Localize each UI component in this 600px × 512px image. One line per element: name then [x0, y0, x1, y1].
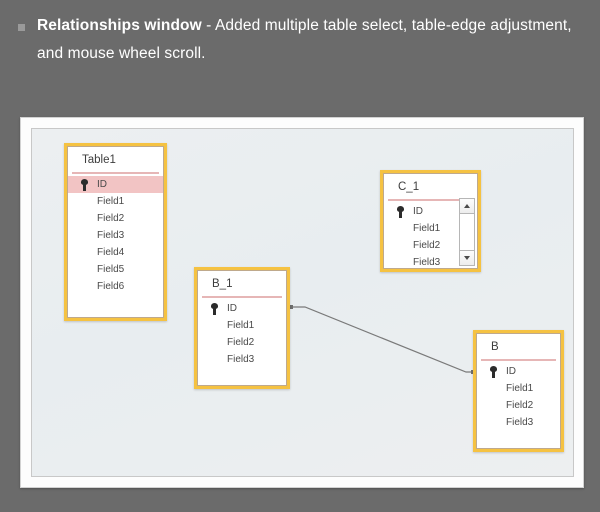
- table-body: Table1IDField1Field2Field3Field4Field5Fi…: [67, 146, 164, 318]
- field-list: IDField1Field2Field3Field4Field5Field6: [68, 174, 163, 295]
- field-label: Field3: [97, 230, 124, 241]
- field-label: Field5: [97, 264, 124, 275]
- relationships-window: Table1IDField1Field2Field3Field4Field5Fi…: [20, 117, 584, 488]
- field-row[interactable]: Field2: [198, 334, 286, 351]
- primary-key-icon: [396, 206, 405, 218]
- field-row[interactable]: Field2: [68, 210, 163, 227]
- field-label: Field1: [97, 196, 124, 207]
- field-row[interactable]: Field6: [68, 278, 163, 295]
- heading-text: Relationships window - Added multiple ta…: [37, 12, 578, 68]
- primary-key-icon: [210, 303, 219, 315]
- field-label: Field2: [97, 213, 124, 224]
- field-row[interactable]: Field5: [68, 261, 163, 278]
- relationship-line-b_1-to-b[interactable]: [291, 307, 473, 372]
- scroll-up-arrow-icon[interactable]: [459, 198, 475, 214]
- field-label: ID: [227, 303, 237, 314]
- scroll-down-arrow-icon[interactable]: [459, 250, 475, 266]
- field-label: Field4: [97, 247, 124, 258]
- field-row[interactable]: Field1: [477, 380, 560, 397]
- relationships-canvas[interactable]: Table1IDField1Field2Field3Field4Field5Fi…: [31, 128, 574, 477]
- field-row[interactable]: ID: [198, 300, 286, 317]
- field-row[interactable]: Field1: [198, 317, 286, 334]
- field-row[interactable]: Field3: [198, 351, 286, 368]
- field-label: ID: [413, 206, 423, 217]
- field-label: Field3: [506, 417, 533, 428]
- field-row[interactable]: Field1: [68, 193, 163, 210]
- field-row[interactable]: ID: [68, 176, 163, 193]
- field-label: Field3: [227, 354, 254, 365]
- table-vertical-scrollbar[interactable]: [459, 198, 475, 266]
- field-label: Field2: [413, 240, 440, 251]
- scrollbar-track[interactable]: [459, 214, 475, 250]
- table-body: BIDField1Field2Field3: [476, 333, 561, 449]
- field-label: Field2: [227, 337, 254, 348]
- table-card-b[interactable]: BIDField1Field2Field3: [473, 330, 564, 452]
- table-card-c_1[interactable]: C_1IDField1Field2Field3: [380, 170, 481, 272]
- field-row[interactable]: Field3: [477, 414, 560, 431]
- field-label: Field1: [227, 320, 254, 331]
- field-label: Field3: [413, 257, 440, 268]
- table-card-table1[interactable]: Table1IDField1Field2Field3Field4Field5Fi…: [64, 143, 167, 321]
- field-row[interactable]: Field2: [477, 397, 560, 414]
- square-bullet-icon: [18, 24, 25, 31]
- field-label: ID: [97, 179, 107, 190]
- table-title[interactable]: C_1: [384, 174, 477, 199]
- slide-heading: Relationships window - Added multiple ta…: [18, 12, 578, 68]
- table-title[interactable]: B: [477, 334, 560, 359]
- field-list: IDField1Field2Field3: [198, 298, 286, 368]
- table-body: C_1IDField1Field2Field3: [383, 173, 478, 269]
- field-list: IDField1Field2Field3: [477, 361, 560, 431]
- primary-key-icon: [489, 366, 498, 378]
- field-label: ID: [506, 366, 516, 377]
- field-label: Field1: [506, 383, 533, 394]
- field-label: Field1: [413, 223, 440, 234]
- table-title[interactable]: B_1: [198, 271, 286, 296]
- primary-key-icon: [80, 179, 89, 191]
- table-body: B_1IDField1Field2Field3: [197, 270, 287, 386]
- heading-bold-part: Relationships window: [37, 17, 202, 34]
- field-row[interactable]: ID: [477, 363, 560, 380]
- field-label: Field2: [506, 400, 533, 411]
- table-card-b_1[interactable]: B_1IDField1Field2Field3: [194, 267, 290, 389]
- field-label: Field6: [97, 281, 124, 292]
- field-row[interactable]: Field3: [68, 227, 163, 244]
- field-row[interactable]: Field4: [68, 244, 163, 261]
- table-title[interactable]: Table1: [68, 147, 163, 172]
